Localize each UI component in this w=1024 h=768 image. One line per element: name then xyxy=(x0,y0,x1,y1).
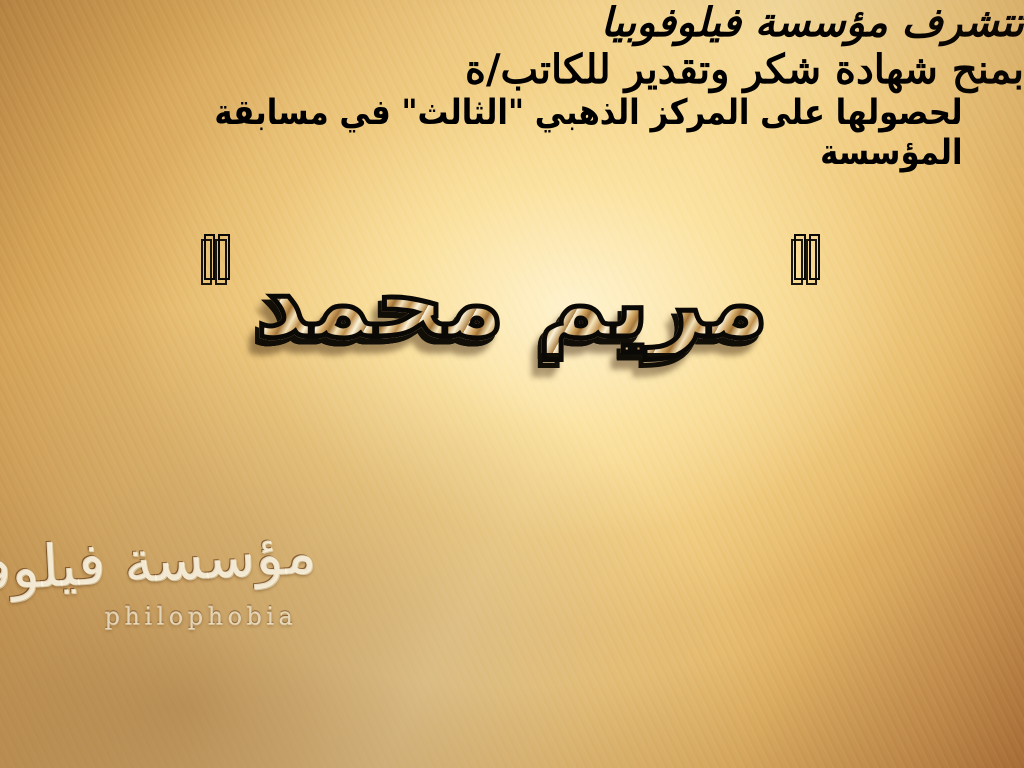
certificate-canvas: تتشرف مؤسسة فيلوفوبيا بمنح شهادة شكر وتق… xyxy=(0,0,1024,768)
philophobia-logo: مؤسسة فيلوفوبيا philophobia xyxy=(86,524,316,709)
headline-text: تتشرف مؤسسة فيلوفوبيا xyxy=(0,0,1024,46)
award-reason-text: لحصولها على المركز الذهبي "الثالث" في مس… xyxy=(61,93,962,173)
logo-arabic-calligraphy: مؤسسة فيلوفوبيا xyxy=(84,518,317,598)
quote-mark-close-icon xyxy=(204,234,230,280)
award-statement-text: بمنح شهادة شكر وتقدير للكاتب/ة xyxy=(0,46,1024,93)
quote-mark-open-icon xyxy=(794,234,820,280)
honoree-name: مريم محمد xyxy=(256,253,768,354)
logo-wordmark: philophobia xyxy=(86,602,316,630)
honoree-name-row: مريم محمد xyxy=(0,228,1024,378)
